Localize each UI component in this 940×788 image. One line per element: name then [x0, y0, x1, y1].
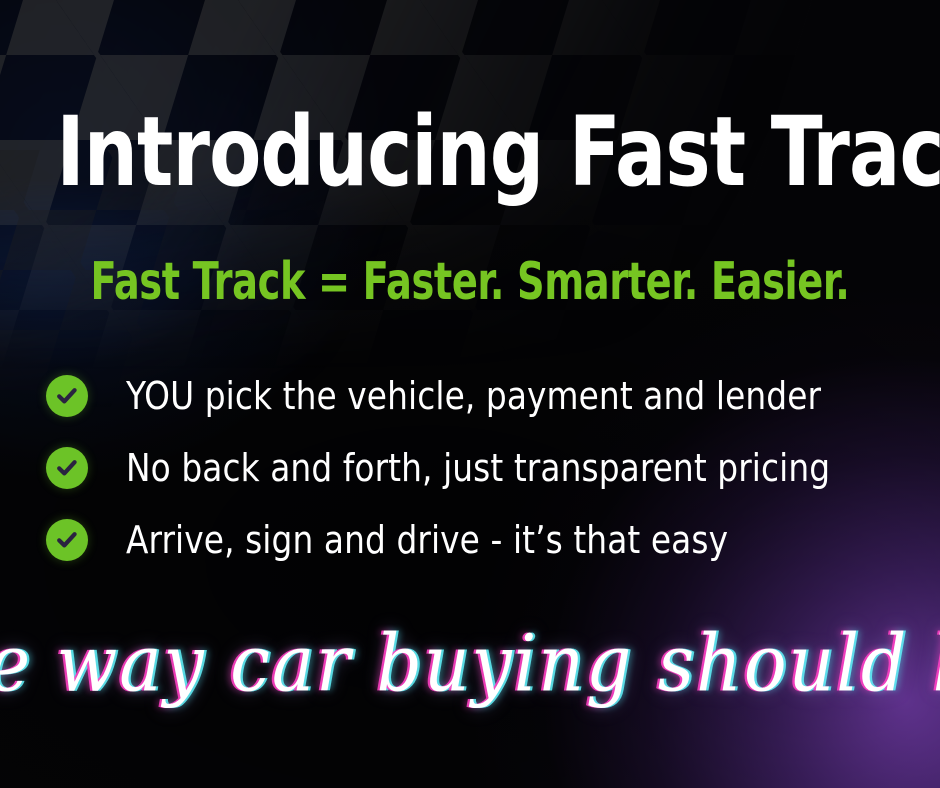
page-title: Introducing Fast Track: [56, 104, 883, 200]
list-item: Arrive, sign and drive - it’s that easy: [46, 518, 906, 562]
list-item-label: No back and forth, just transparent pric…: [126, 449, 830, 487]
check-circle-icon: [46, 375, 88, 417]
poster-content: Introducing Fast Track Fast Track = Fast…: [0, 0, 940, 788]
promo-poster: Introducing Fast Track Fast Track = Fast…: [0, 0, 940, 788]
tagline: The way car buying should be.: [0, 625, 940, 703]
benefits-list: YOU pick the vehicle, payment and lender…: [46, 374, 906, 590]
list-item-label: Arrive, sign and drive - it’s that easy: [126, 521, 728, 559]
list-item: No back and forth, just transparent pric…: [46, 446, 906, 490]
page-subtitle: Fast Track = Faster. Smarter. Easier.: [85, 256, 856, 308]
check-circle-icon: [46, 519, 88, 561]
list-item-label: YOU pick the vehicle, payment and lender: [126, 377, 821, 415]
list-item: YOU pick the vehicle, payment and lender: [46, 374, 906, 418]
check-circle-icon: [46, 447, 88, 489]
tagline-container: The way car buying should be.: [0, 604, 940, 724]
